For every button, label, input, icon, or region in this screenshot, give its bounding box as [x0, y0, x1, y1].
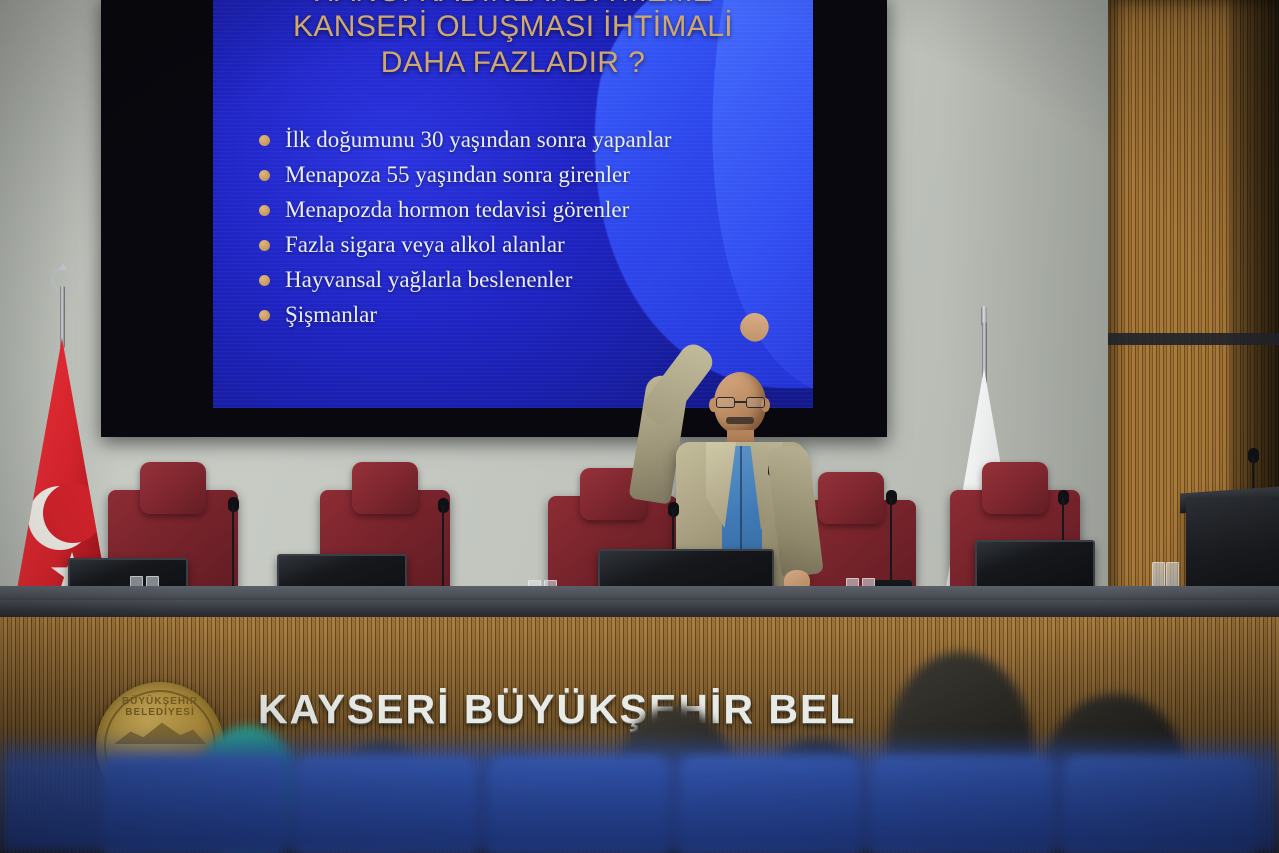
slide-bullet-item: Fazla sigara veya alkol alanlar [259, 233, 813, 268]
laptop [975, 540, 1095, 592]
microphone-stem [890, 498, 892, 582]
microphone-stem [232, 505, 234, 589]
slide-content: HANGİ KADINLARDA MEME KANSERİ OLUŞMASI İ… [213, 0, 813, 408]
water-glass [1166, 562, 1179, 588]
crescent-icon [28, 486, 92, 550]
slide-bullet-item: Hayvansal yağlarla beslenenler [259, 268, 813, 303]
wall-trim-strip [1108, 333, 1279, 345]
slide-title: HANGİ KADINLARDA MEME KANSERİ OLUŞMASI İ… [213, 0, 813, 80]
slide-bullet-list: İlk doğumunu 30 yaşından sonra yapanlar … [259, 128, 813, 338]
slide-title-line-1: HANGİ KADINLARDA MEME [219, 0, 807, 9]
emblem-arc-text: BÜYÜKŞEHİR BELEDİYESİ [96, 696, 224, 718]
slide-bullet-item: Menapozda hormon tedavisi görenler [259, 198, 813, 233]
slide-bullet-item: Şişmanlar [259, 303, 813, 338]
slide-title-line-2: KANSERİ OLUŞMASI İHTİMALİ [219, 9, 807, 44]
projection-screen-panel: HANGİ KADINLARDA MEME KANSERİ OLUŞMASI İ… [101, 0, 887, 437]
chair-headrest [982, 462, 1048, 514]
slide-bullet-item: Menapoza 55 yaşından sonra girenler [259, 163, 813, 198]
slide-bullet-item: İlk doğumunu 30 yaşından sonra yapanlar [259, 128, 813, 163]
slide-title-line-3: DAHA FAZLADIR ? [219, 45, 807, 80]
projection-screen-frame: HANGİ KADINLARDA MEME KANSERİ OLUŞMASI İ… [101, 0, 887, 437]
conference-hall-scene: HANGİ KADINLARDA MEME KANSERİ OLUŞMASI İ… [0, 0, 1279, 853]
presenter-mustache [726, 417, 754, 424]
presentation-slide: HANGİ KADINLARDA MEME KANSERİ OLUŞMASI İ… [213, 0, 813, 408]
flag-pole [60, 286, 65, 348]
laptop-screen [975, 540, 1095, 592]
water-glass [1152, 562, 1165, 588]
audience-seat-row [0, 733, 1279, 853]
venue-wall-sign: KAYSERİ BÜYÜKŞEHİR BEL [258, 686, 856, 733]
chair-headrest [140, 462, 206, 514]
microphone-stem [442, 506, 444, 590]
chair-headrest [352, 462, 418, 514]
